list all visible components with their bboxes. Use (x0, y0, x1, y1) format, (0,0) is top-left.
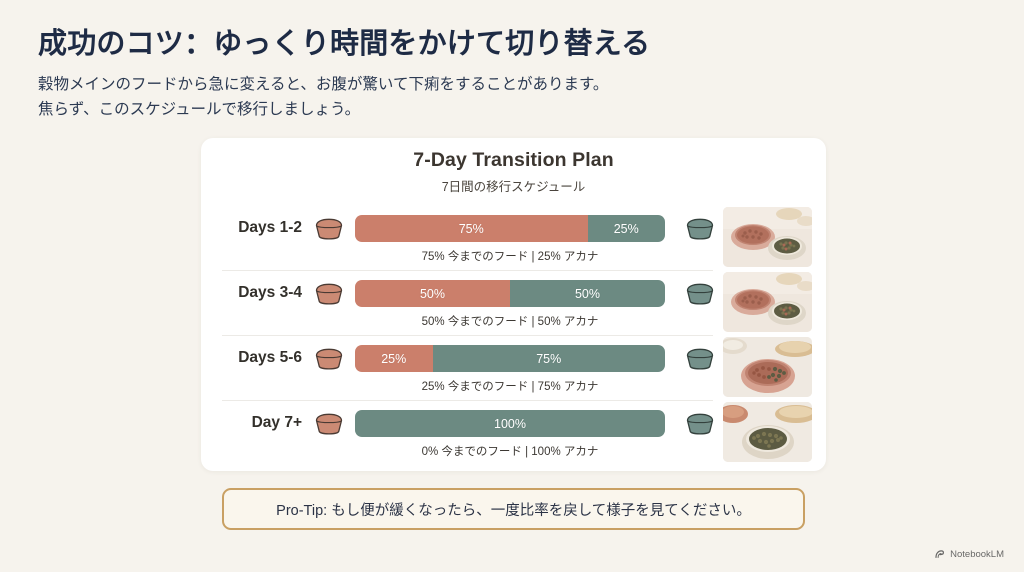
dog-bowl-old-food-icon (314, 283, 344, 305)
transition-ratio-bar: 25% 75% (355, 345, 665, 372)
plan-row-caption: 75% 今までのフード | 25% アカナ (355, 248, 665, 264)
notebooklm-icon (935, 549, 946, 560)
page-subtitle-line-1: 穀物メインのフードから急に変えると、お腹が驚いて下痢をすることがあります。 (38, 73, 738, 97)
bar-segment-new-food: 50% (510, 280, 665, 307)
single-bowl-of-new-kibble-photo (723, 402, 812, 462)
card-subtitle: 7日間の移行スケジュール (201, 176, 826, 195)
bar-segment-new-food: 25% (588, 215, 666, 242)
card-title: 7-Day Transition Plan (201, 149, 826, 172)
plan-row-label: Day 7+ (222, 400, 302, 432)
header: 成功のコツ：ゆっくり時間をかけて切り替える 穀物メインのフードから急に変えると、… (38, 26, 738, 122)
plan-row-caption: 25% 今までのフード | 75% アカナ (355, 378, 665, 394)
bar-segment-old-food: 50% (355, 280, 510, 307)
notebooklm-watermark: NotebookLM (935, 549, 1004, 560)
plan-row-caption: 0% 今までのフード | 100% アカナ (355, 443, 665, 459)
plan-row-label: Days 1-2 (222, 205, 302, 237)
plan-row-bar-zone: 50% 50% 50% 今までのフード | 50% アカナ (355, 270, 665, 329)
transition-plan-card: 7-Day Transition Plan 7日間の移行スケジュール Days … (201, 138, 826, 471)
plan-row-bar-zone: 100% 0% 今までのフード | 100% アカナ (355, 400, 665, 459)
bar-segment-old-food: 75% (355, 215, 588, 242)
dog-bowl-old-food-icon (314, 218, 344, 240)
page-subtitle-line-2: 焦らず、このスケジュールで移行しましょう。 (38, 98, 738, 122)
dog-bowl-new-food-icon (685, 413, 715, 435)
plan-row-label: Days 3-4 (222, 270, 302, 302)
plan-row-bar-zone: 25% 75% 25% 今までのフード | 75% アカナ (355, 335, 665, 394)
dog-bowl-new-food-icon (685, 348, 715, 370)
plan-row-label: Days 5-6 (222, 335, 302, 367)
plan-row-bar-zone: 75% 25% 75% 今までのフード | 25% アカナ (355, 205, 665, 264)
transition-ratio-bar: 100% (355, 410, 665, 437)
two-bowls-of-kibble-photo (723, 272, 812, 332)
page-title: 成功のコツ：ゆっくり時間をかけて切り替える (38, 26, 738, 62)
pro-tip-banner: Pro-Tip: もし便が緩くなったら、一度比率を戻して様子を見てください。 (222, 488, 805, 530)
page-subtitle: 穀物メインのフードから急に変えると、お腹が驚いて下痢をすることがあります。 焦ら… (38, 73, 738, 122)
bar-segment-old-food: 25% (355, 345, 433, 372)
plan-row: Day 7+ 100% 0% 今までのフード | 100% アカナ (201, 400, 826, 465)
bar-segment-new-food: 100% (355, 410, 665, 437)
plan-row-caption: 50% 今までのフード | 50% アカナ (355, 313, 665, 329)
two-bowls-of-kibble-photo (723, 207, 812, 267)
dog-bowl-old-food-icon (314, 348, 344, 370)
transition-ratio-bar: 75% 25% (355, 215, 665, 242)
plan-row-list: Days 1-2 75% 25% 75% 今までのフード | 25% アカナ (201, 205, 826, 465)
dog-bowl-new-food-icon (685, 283, 715, 305)
dog-bowl-new-food-icon (685, 218, 715, 240)
transition-ratio-bar: 50% 50% (355, 280, 665, 307)
plan-row: Days 1-2 75% 25% 75% 今までのフード | 25% アカナ (201, 205, 826, 270)
plan-row: Days 3-4 50% 50% 50% 今までのフード | 50% アカナ (201, 270, 826, 335)
pro-tip-text: Pro-Tip: もし便が緩くなったら、一度比率を戻して様子を見てください。 (276, 499, 751, 520)
bar-segment-new-food: 75% (433, 345, 666, 372)
plan-row: Days 5-6 25% 75% 25% 今までのフード | 75% アカナ (201, 335, 826, 400)
dog-bowl-old-food-icon (314, 413, 344, 435)
notebooklm-label: NotebookLM (950, 549, 1004, 560)
single-bowl-of-mixed-kibble-photo (723, 337, 812, 397)
